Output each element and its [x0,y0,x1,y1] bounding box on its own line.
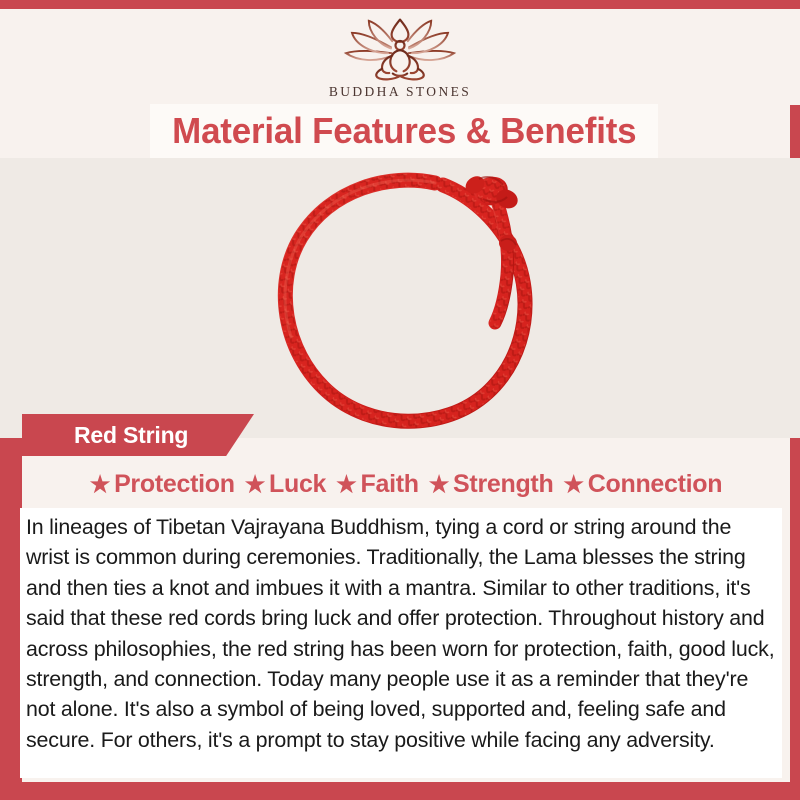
star-icon: ★ [563,473,583,496]
benefit-item: ★ Faith [331,470,424,499]
page-title: Material Features & Benefits [172,110,636,152]
star-icon: ★ [90,473,110,496]
frame-top-border [0,0,800,9]
brand-logo: BUDDHA STONES [329,16,471,100]
benefit-label: Protection [114,470,235,499]
benefit-label: Strength [453,470,553,499]
product-material-banner: Red String [22,414,254,456]
description-text: In lineages of Tibetan Vajrayana Buddhis… [26,512,776,755]
benefit-item: ★ Strength [424,470,559,499]
star-icon: ★ [336,473,356,496]
brand-header: BUDDHA STONES [0,9,800,105]
star-icon: ★ [245,473,265,496]
title-banner: Material Features & Benefits [150,104,658,158]
product-photo-panel [0,158,800,438]
benefit-item: ★ Connection [558,470,727,499]
infographic-page: BUDDHA STONES Material Features & Benefi… [0,0,800,800]
benefit-item: ★ Protection [85,470,240,499]
description-panel: In lineages of Tibetan Vajrayana Buddhis… [20,508,782,778]
benefit-label: Faith [361,470,419,499]
benefit-label: Luck [269,470,326,499]
benefits-list: ★ Protection ★ Luck ★ Faith ★ Strength ★… [22,462,790,506]
star-icon: ★ [429,473,449,496]
brand-name: BUDDHA STONES [329,84,471,100]
frame-bottom-border [0,782,800,800]
product-material-label: Red String [74,422,188,449]
benefit-item: ★ Luck [240,470,331,499]
benefit-label: Connection [588,470,723,499]
lotus-meditation-icon [334,16,466,82]
